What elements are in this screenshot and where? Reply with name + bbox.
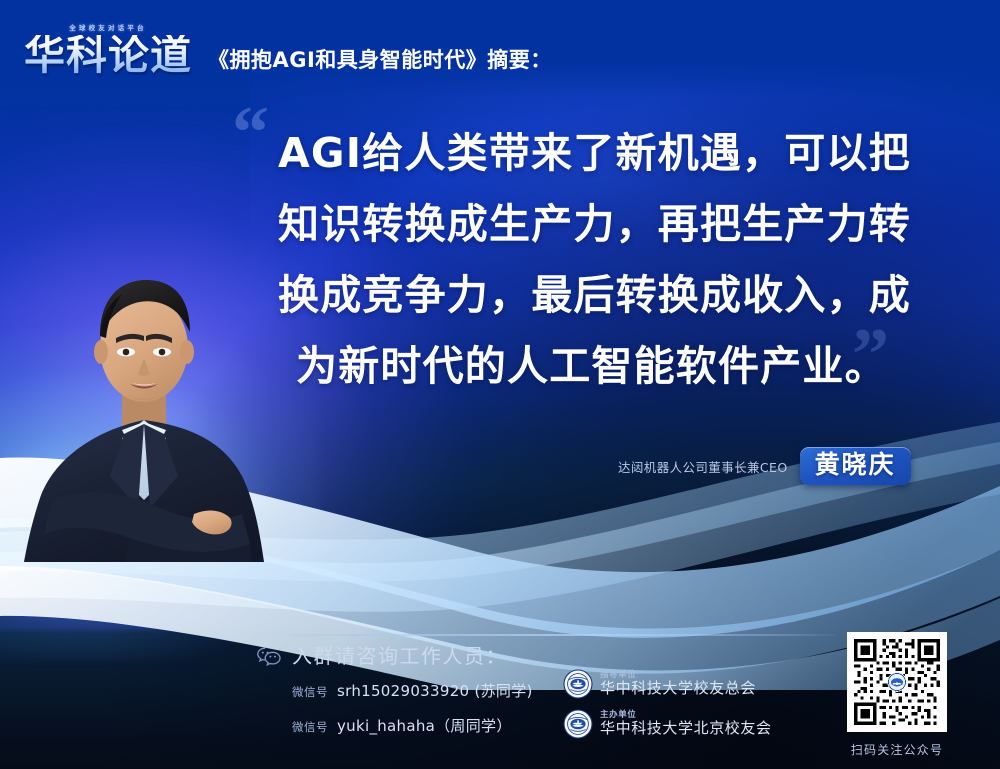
quote-line: 换成竞争力，最后转换成收入，成: [278, 260, 938, 331]
speaker-portrait: [18, 262, 268, 562]
organization-list: 指导单位 华中科技大学校友总会 主办单位: [563, 669, 772, 749]
brand-logo[interactable]: 全球校友对话平台 华科论道: [24, 26, 192, 77]
brand-name: 华科论道: [24, 35, 192, 76]
speaker-name-badge: 黄晓庆: [800, 447, 911, 485]
organization-text: 主办单位 华中科技大学北京校友会: [600, 711, 772, 736]
quote-open-mark: “: [232, 96, 269, 170]
page-title: 《拥抱AGI和具身智能时代》摘要：: [208, 50, 552, 76]
wechat-icon: [256, 646, 282, 666]
poster-canvas: 全球校友对话平台 华科论道 《拥抱AGI和具身智能时代》摘要： “ ” AGI给…: [0, 0, 1000, 769]
quote-text: AGI给人类带来了新机遇，可以把 知识转换成生产力，再把生产力转 换成竞争力，最…: [278, 118, 938, 402]
qr-code-icon[interactable]: [847, 632, 947, 732]
contact-value[interactable]: srh15029033920 (苏同学): [337, 680, 533, 701]
quote-line: AGI给人类带来了新机遇，可以把: [278, 118, 938, 189]
footer-divider: [288, 634, 836, 636]
qr-caption: 扫码关注公众号: [840, 741, 954, 758]
organization-row: 指导单位 华中科技大学校友总会: [563, 669, 772, 699]
speaker-name: 黄晓庆: [815, 450, 896, 479]
hust-seal-icon: [563, 669, 593, 699]
speaker-role: 达闼机器人公司董事长兼CEO: [618, 457, 788, 476]
footer-heading: 入群请咨询工作人员：: [292, 646, 507, 666]
hust-seal-icon: [563, 709, 593, 739]
quote-line: 知识转换成生产力，再把生产力转: [278, 189, 938, 260]
qr-block: 扫码关注公众号: [840, 632, 954, 758]
contact-label: 微信号: [292, 719, 328, 735]
contact-value[interactable]: yuki_hahaha（周同学）: [337, 715, 512, 736]
organization-name: 华中科技大学北京校友会: [600, 721, 772, 737]
organization-row: 主办单位 华中科技大学北京校友会: [563, 709, 772, 739]
wechat-heading-row: 入群请咨询工作人员：: [256, 646, 816, 666]
organization-name: 华中科技大学校友总会: [600, 681, 756, 697]
attribution: 达闼机器人公司董事长兼CEO 黄晓庆: [618, 447, 911, 485]
organization-text: 指导单位 华中科技大学校友总会: [600, 671, 756, 696]
contact-label: 微信号: [292, 684, 328, 700]
header: 全球校友对话平台 华科论道 《拥抱AGI和具身智能时代》摘要：: [24, 14, 552, 76]
quote-line: 为新时代的人工智能软件产业。: [278, 331, 938, 402]
